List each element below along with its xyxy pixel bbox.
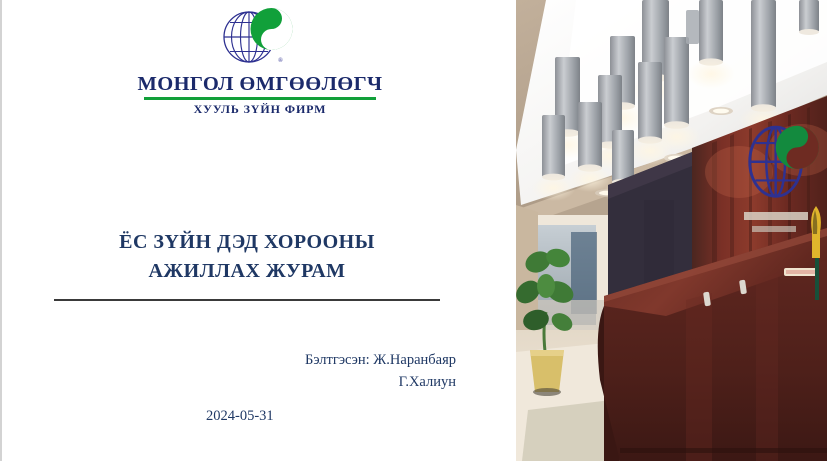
title-divider-rule <box>54 299 440 301</box>
document-cover-page: ® МОНГОЛ ӨМГӨӨЛӨГЧ ХУУЛЬ ЗҮЙН ФИРМ ЁС ЗҮ… <box>0 0 827 461</box>
office-lobby-illustration <box>516 0 827 461</box>
prepared-by-byline: Бэлтгэсэн: Ж.Наранбаяр Г.Халиун <box>305 350 456 394</box>
company-name: МОНГОЛ ӨМГӨӨЛӨГЧ <box>2 74 518 96</box>
globe-yinyang-logo-icon: ® <box>205 6 315 72</box>
document-text-column: ® МОНГОЛ ӨМГӨӨЛӨГЧ ХУУЛЬ ЗҮЙН ФИРМ ЁС ЗҮ… <box>0 0 516 461</box>
logo-green-underline <box>144 97 376 100</box>
company-logo-block: ® МОНГОЛ ӨМГӨӨЛӨГЧ ХУУЛЬ ЗҮЙН ФИРМ <box>2 6 518 117</box>
document-title-line-1: ЁС ЗҮЙН ДЭД ХОРООНЫ <box>42 228 452 257</box>
byline-line-2: Г.Халиун <box>305 372 456 394</box>
company-tagline: ХУУЛЬ ЗҮЙН ФИРМ <box>2 102 518 117</box>
document-title-line-2: АЖИЛЛАХ ЖУРАМ <box>42 257 452 286</box>
byline-line-1: Бэлтгэсэн: Ж.Наранбаяр <box>305 350 456 372</box>
registered-trademark-glyph: ® <box>278 57 283 64</box>
document-date: 2024-05-31 <box>206 408 274 425</box>
document-title: ЁС ЗҮЙН ДЭД ХОРООНЫ АЖИЛЛАХ ЖУРАМ <box>42 228 452 286</box>
office-lobby-photo <box>516 0 827 461</box>
